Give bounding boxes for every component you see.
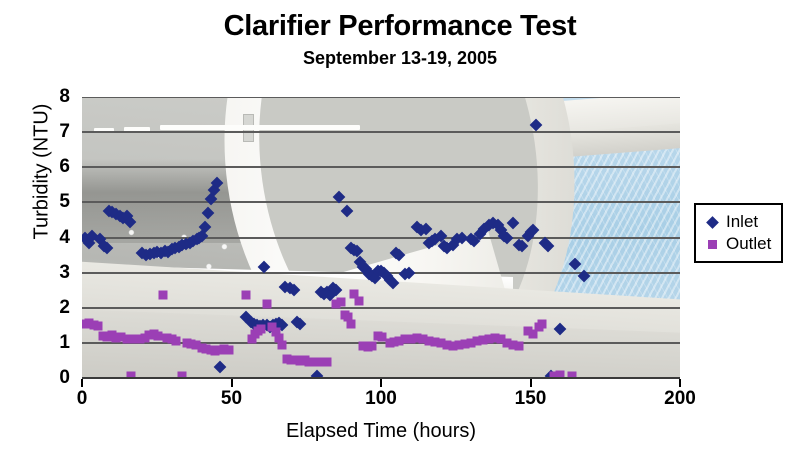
legend-label-inlet: Inlet [726, 212, 758, 232]
data-point-outlet [158, 291, 167, 300]
x-tick-label-150: 150 [501, 388, 561, 410]
x-tick-mark-200 [679, 379, 681, 387]
plot-area [82, 97, 680, 378]
data-point-outlet [336, 298, 345, 307]
chart-title: Clarifier Performance Test [0, 10, 800, 43]
gridline-y-2 [82, 307, 680, 309]
legend-item-inlet[interactable]: Inlet [703, 211, 771, 233]
data-point-outlet [263, 300, 272, 309]
data-point-outlet [538, 319, 547, 328]
x-tick-mark-150 [530, 379, 532, 387]
y-tick-label-1: 1 [44, 332, 70, 354]
gridline-y-7 [82, 131, 680, 133]
background-highlight-dash-3 [160, 125, 360, 130]
data-point-outlet [94, 322, 103, 331]
y-tick-label-4: 4 [44, 227, 70, 249]
data-point-outlet [323, 358, 332, 367]
legend-item-outlet[interactable]: Outlet [703, 233, 771, 255]
y-tick-label-8: 8 [44, 86, 70, 108]
y-tick-label-3: 3 [44, 262, 70, 284]
x-tick-mark-100 [380, 379, 382, 387]
y-tick-label-5: 5 [44, 191, 70, 213]
y-tick-label-6: 6 [44, 156, 70, 178]
legend: Inlet Outlet [694, 203, 783, 263]
data-point-outlet [172, 337, 181, 346]
gridline-y-8 [82, 97, 680, 98]
x-tick-mark-50 [231, 379, 233, 387]
data-point-outlet [368, 341, 377, 350]
data-point-outlet [354, 296, 363, 305]
x-tick-mark-0 [81, 379, 83, 387]
data-point-outlet [224, 345, 233, 354]
data-point-outlet [122, 334, 131, 343]
data-point-outlet [514, 342, 523, 351]
diamond-icon [703, 218, 721, 227]
chart-subtitle: September 13-19, 2005 [0, 48, 800, 69]
x-tick-label-0: 0 [52, 388, 112, 410]
y-tick-label-2: 2 [44, 297, 70, 319]
data-point-outlet [154, 331, 163, 340]
legend-label-outlet: Outlet [726, 234, 771, 254]
gridline-y-5 [82, 201, 680, 203]
gridline-y-4 [82, 237, 680, 239]
data-point-outlet [257, 324, 266, 333]
chart-figure: Clarifier Performance Test September 13-… [0, 0, 800, 461]
x-axis-title: Elapsed Time (hours) [82, 420, 680, 443]
gridline-y-6 [82, 166, 680, 168]
data-point-outlet [347, 319, 356, 328]
x-tick-label-50: 50 [202, 388, 262, 410]
square-icon [703, 240, 721, 249]
x-tick-label-100: 100 [351, 388, 411, 410]
x-tick-label-200: 200 [650, 388, 710, 410]
y-tick-label-0: 0 [44, 367, 70, 389]
data-point-outlet [242, 291, 251, 300]
data-point-outlet [278, 340, 287, 349]
y-tick-label-7: 7 [44, 121, 70, 143]
